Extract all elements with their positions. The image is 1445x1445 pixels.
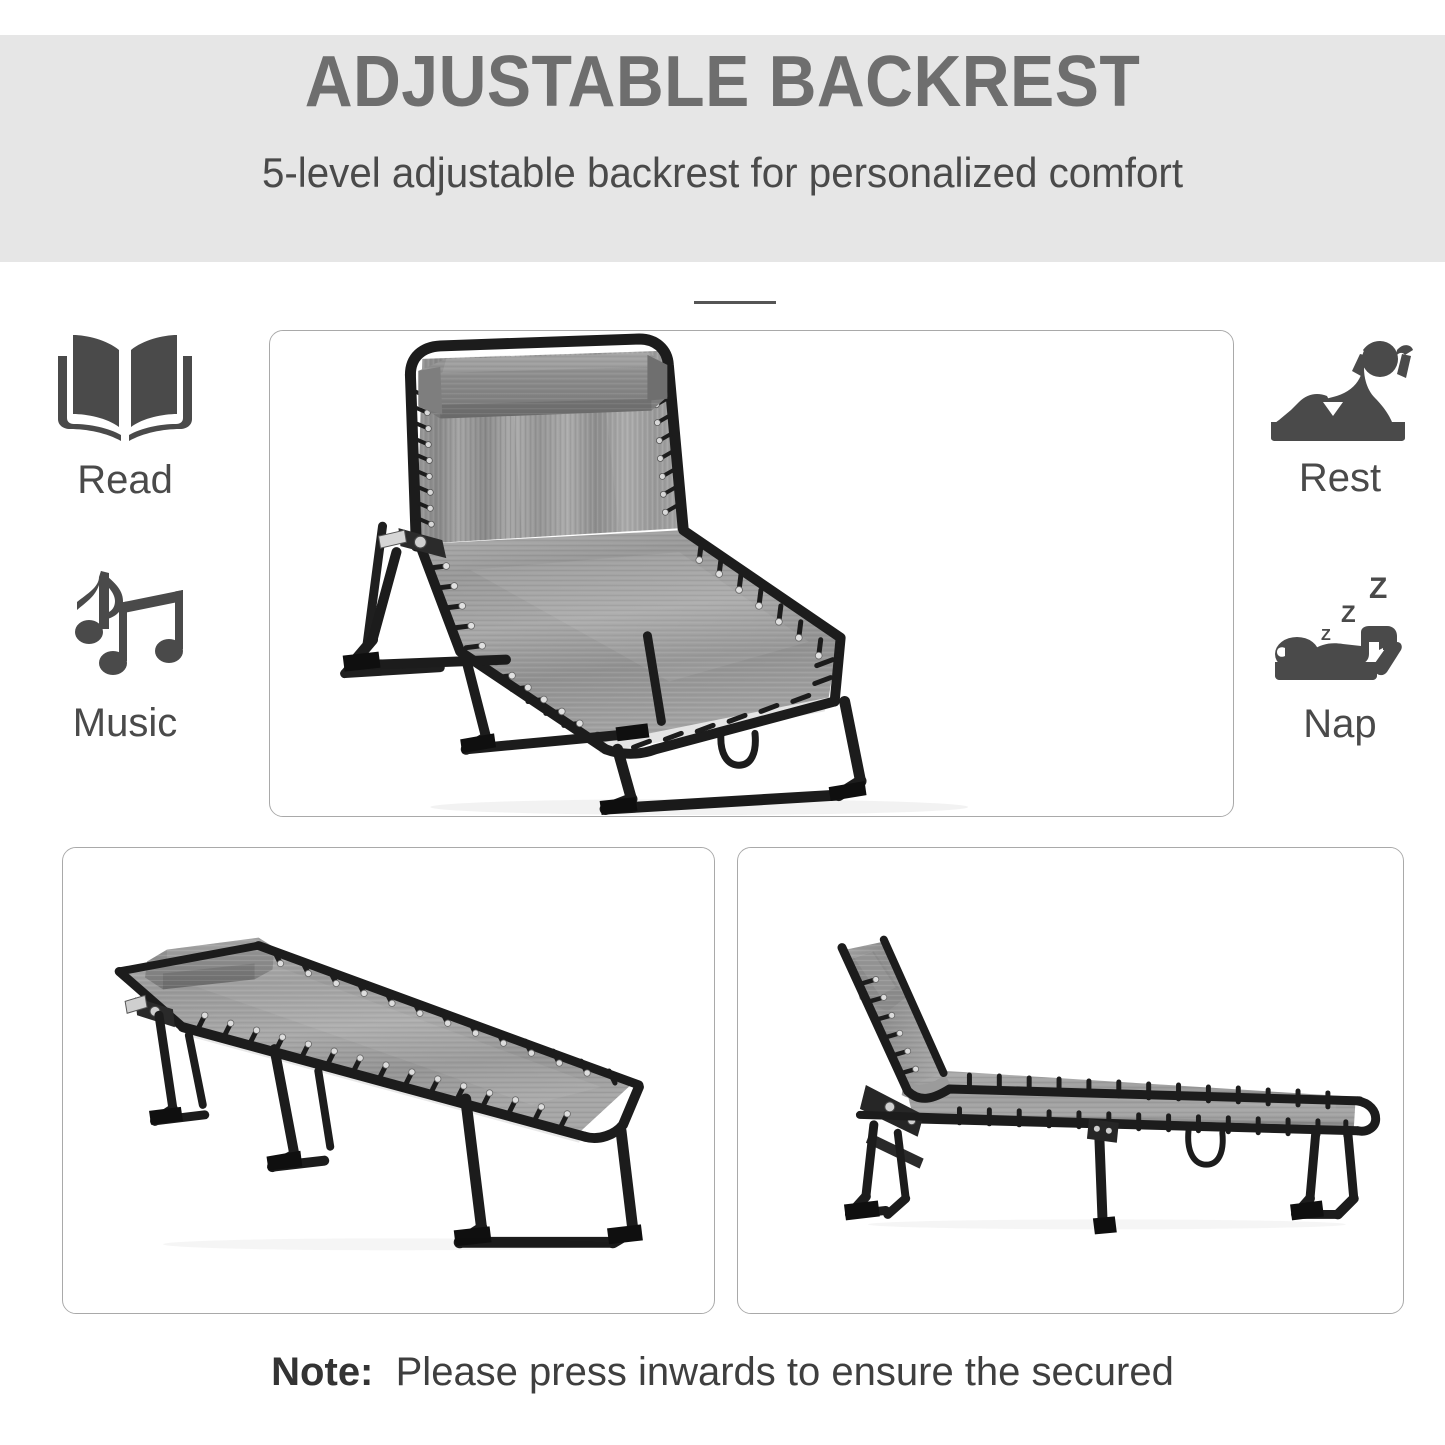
feature-music: Music [25,567,225,743]
page-title: ADJUSTABLE BACKREST [58,46,1387,118]
open-book-icon [25,334,225,444]
note-text: Please press inwards to ensure the secur… [396,1350,1174,1394]
feature-read-label: Read [25,460,225,500]
bottom-note: Note: Please press inwards to ensure the… [0,1352,1445,1392]
svg-text:Z: Z [1321,627,1331,644]
section-divider-dash [694,301,776,304]
feature-read: Read [25,334,225,500]
note-label: Note: [271,1350,384,1394]
product-image-panel-main [269,330,1234,817]
chaise-lounge-flat-illustration [63,848,714,1313]
feature-nap: Z Z Z Nap [1240,570,1440,744]
music-notes-icon [25,567,225,687]
feature-nap-label: Nap [1240,704,1440,744]
product-image-panel-flat [62,847,715,1314]
page-subtitle: 5-level adjustable backrest for personal… [29,152,1416,194]
feature-rest: Rest [1240,340,1440,498]
person-resting-icon [1240,340,1440,442]
product-image-panel-side [737,847,1404,1314]
feature-music-label: Music [25,703,225,743]
chaise-lounge-side-profile-illustration [738,848,1403,1313]
person-napping-zzz-icon: Z Z Z [1240,570,1440,688]
feature-rest-label: Rest [1240,458,1440,498]
chaise-lounge-upright-illustration [270,331,1233,816]
svg-text:Z: Z [1341,601,1356,628]
svg-text:Z: Z [1369,572,1387,605]
